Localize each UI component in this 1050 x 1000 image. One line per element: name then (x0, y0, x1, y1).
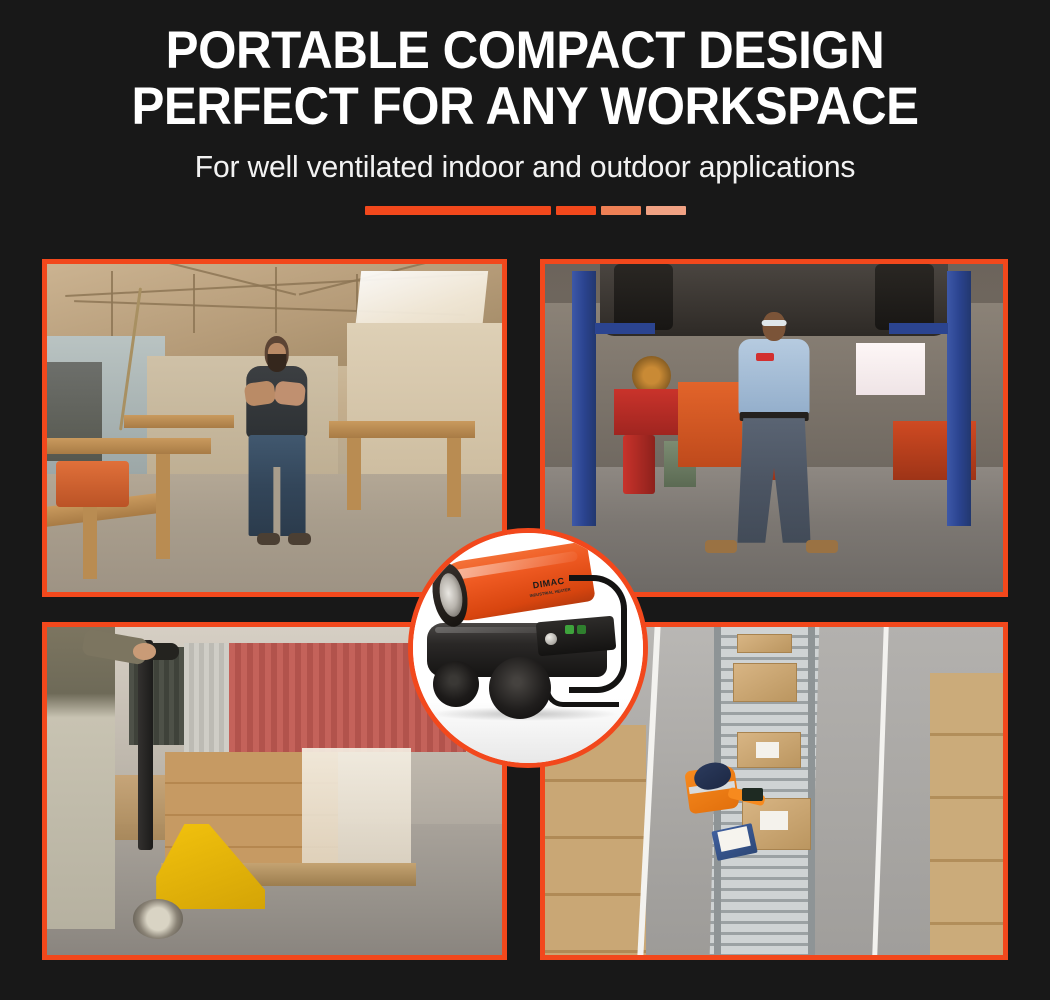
title-line-1: PORTABLE COMPACT DESIGN (37, 26, 1014, 76)
divider-segment-1 (365, 206, 551, 215)
product-highlight-circle: DIMAC INDUSTRIAL HEATER (408, 528, 648, 768)
product-image: DIMAC INDUSTRIAL HEATER (413, 533, 643, 763)
page-title: PORTABLE COMPACT DESIGN PERFECT FOR ANY … (0, 0, 1050, 132)
title-line-2: PERFECT FOR ANY WORKSPACE (37, 82, 1014, 132)
header-section: PORTABLE COMPACT DESIGN PERFECT FOR ANY … (0, 0, 1050, 250)
divider-segment-3 (601, 206, 641, 215)
heater-illustration: DIMAC INDUSTRIAL HEATER (419, 557, 637, 737)
accent-divider (0, 206, 1050, 215)
heater-handle-frame (569, 575, 627, 693)
page-subtitle: For well ventilated indoor and outdoor a… (16, 149, 1035, 185)
divider-segment-4 (646, 206, 686, 215)
heater-control-knob (545, 633, 557, 645)
heater-rear-wheel (433, 661, 479, 707)
heater-front-wheel (489, 657, 551, 719)
heater-handle-leg (545, 685, 619, 707)
divider-segment-2 (556, 206, 596, 215)
